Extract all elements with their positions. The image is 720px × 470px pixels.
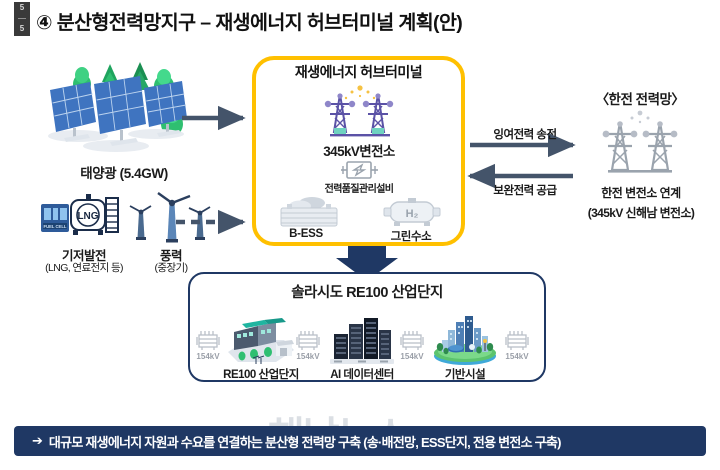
transformer-label: 154kV xyxy=(292,352,324,361)
transformer-label: 154kV xyxy=(192,352,224,361)
kepco-line1: 한전 변전소 연계 xyxy=(570,184,712,201)
re100-title: 솔라시도 RE100 산업단지 xyxy=(188,281,546,302)
battery-storage-icon xyxy=(278,196,340,228)
transformer-icon xyxy=(196,330,220,352)
transformer-label: 154kV xyxy=(396,352,428,361)
smart-city-icon xyxy=(432,314,498,366)
transmission-tower-icon xyxy=(310,84,410,142)
summary-banner: ➔ 대규모 재생에너지 자원과 수요를 연결하는 분산형 전력망 구축 (송·배… xyxy=(14,426,706,456)
bess-label: B-ESS xyxy=(268,228,344,240)
kepco-grid-title: 〈한전 전력망〉 xyxy=(566,88,714,108)
transformer-icon xyxy=(400,330,424,352)
inverter-icon xyxy=(340,160,380,180)
substation-label: 345kV변전소 xyxy=(286,140,432,160)
power-quality-label: 전력품질관리설비 xyxy=(286,180,432,195)
transformer-label: 154kV xyxy=(501,352,533,361)
export-flow-label: 잉여전력 송전 xyxy=(470,126,580,142)
hub-title: 재생에너지 허브터미널 xyxy=(252,62,465,82)
hydrogen-label: 그린수소 xyxy=(372,228,450,244)
transformer-icon xyxy=(296,330,320,352)
transmission-tower-icon xyxy=(592,108,688,180)
re100-node-label: 기반시설 xyxy=(430,366,500,382)
re100-node-label: RE100 산업단지 xyxy=(214,366,308,382)
summary-banner-text: 대규모 재생에너지 자원과 수요를 연결하는 분산형 전력망 구축 (송·배전망… xyxy=(49,432,561,451)
arrow-icon: ➔ xyxy=(32,433,43,449)
factory-icon xyxy=(224,318,296,366)
kepco-line2: (345kV 신해남 변전소) xyxy=(560,204,720,221)
svg-text:H₂: H₂ xyxy=(406,208,419,220)
server-rack-icon xyxy=(330,316,394,366)
slide-canvas: 5 5 ④ 분산형전력망지구 – 재생에너지 허브터미널 계획(안) xyxy=(0,0,720,470)
import-flow-label: 보완전력 공급 xyxy=(470,182,580,198)
transformer-icon xyxy=(505,330,529,352)
re100-node-label: AI 데이터센터 xyxy=(316,366,408,382)
h2-tank-icon: H₂ xyxy=(382,198,442,228)
